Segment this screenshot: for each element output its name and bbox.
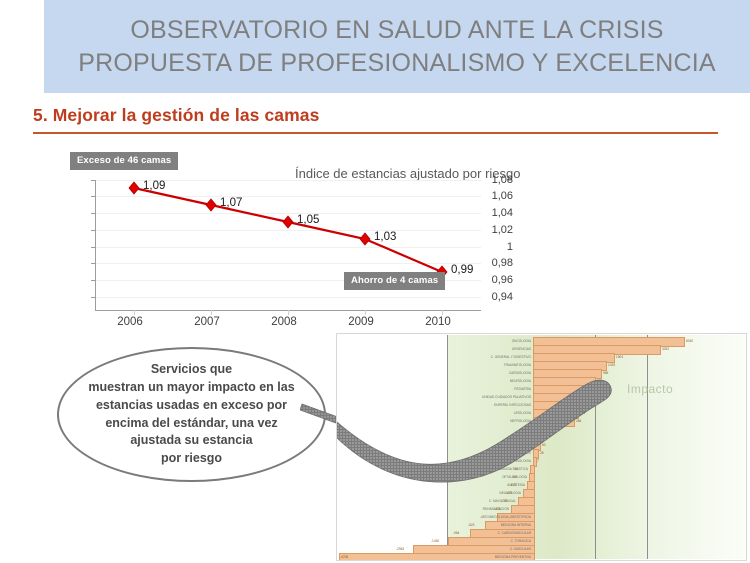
status-badge-ahorro: Ahorro de 4 camas (344, 272, 445, 290)
data-point-label: 1,07 (220, 197, 242, 209)
page-title: OBSERVATORIO EN SALUD ANTE LA CRISIS PRO… (44, 0, 750, 93)
impact-bar-chart: Impacto ONCOLOGIA URGENCIAS C. GENER (336, 333, 747, 561)
section-heading: 5. Mejorar la gestión de las camas (33, 105, 319, 126)
line-series (33, 150, 513, 335)
data-point-label: 0,99 (451, 264, 473, 276)
callout-oval: Servicios que muestran un mayor impacto … (57, 347, 326, 482)
impact-pointer-arrow (337, 334, 746, 560)
line-chart: Índice de estancias ajustado por riesgo … (33, 150, 513, 335)
slide: OBSERVATORIO EN SALUD ANTE LA CRISIS PRO… (0, 0, 750, 563)
callout-line: estancias usadas en exceso por (88, 397, 294, 415)
callout-line: muestran un mayor impacto en las (88, 379, 294, 397)
data-point-label: 1,03 (374, 231, 396, 243)
callout-line: por riesgo (88, 450, 294, 468)
section-divider (33, 132, 718, 134)
callout-line: encima del estándar, una vez (88, 415, 294, 433)
data-point-label: 1,05 (297, 214, 319, 226)
status-badge-exceso: Exceso de 46 camas (70, 152, 178, 170)
callout-line: Servicios que (88, 361, 294, 379)
page-title-line1: OBSERVATORIO EN SALUD ANTE LA CRISIS (130, 14, 663, 47)
data-point-label: 1,09 (143, 180, 165, 192)
page-title-line2: PROPUESTA DE PROFESIONALISMO Y EXCELENCI… (78, 47, 716, 80)
callout-oval-text: Servicios que muestran un mayor impacto … (80, 361, 302, 468)
callout-line: ajustada su estancia (88, 432, 294, 450)
header-band: OBSERVATORIO EN SALUD ANTE LA CRISIS PRO… (44, 0, 750, 93)
